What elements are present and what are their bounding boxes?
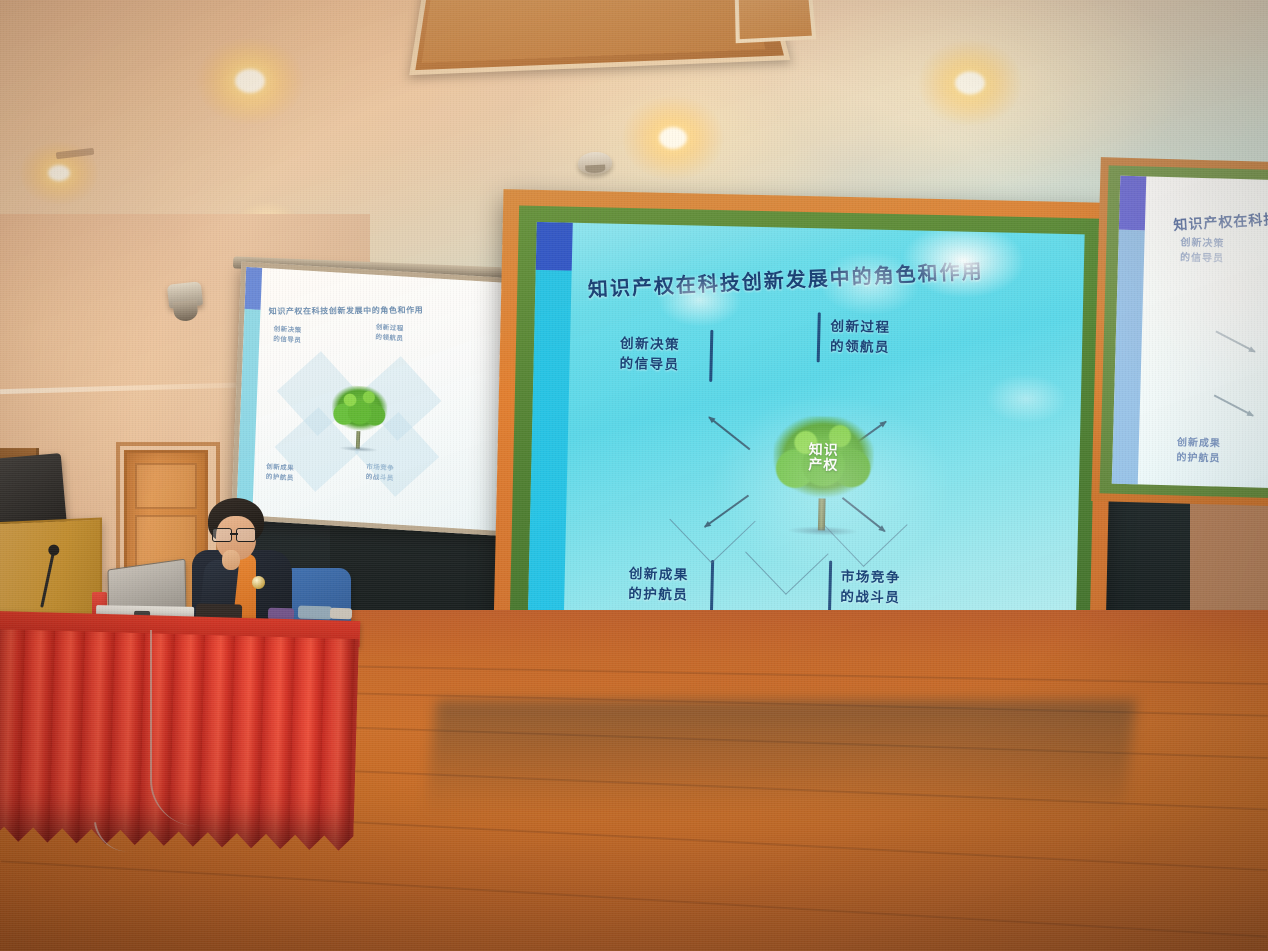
left-screen-surface: 知识产权在科技创新发展中的角色和作用 创新决策的信导员 创新过程的领航员 创新成… xyxy=(236,267,514,531)
slide-tick-top-right xyxy=(817,312,821,362)
label-line-1: 创新成果 xyxy=(629,564,689,585)
left-screen-tree-graphic xyxy=(326,384,362,426)
slide-title: 知识产权在科技创新发展中的角色和作用 xyxy=(587,251,1058,302)
tree-label-line-2: 产权 xyxy=(808,456,838,473)
main-screen-surface: 知识产权在科技创新发展中的角色和作用 创新决策 的信导员 创新过程 的领航员 创… xyxy=(527,222,1084,648)
lecture-hall-photo: 知识产权在科技创新发展中的角色和作用 创新决策的信导员 创新过程的领航员 创新成… xyxy=(0,0,1268,951)
presenter-glasses xyxy=(212,528,256,540)
label-line-1: 市场竞争 xyxy=(841,567,901,588)
power-cable xyxy=(150,630,196,826)
slide-tick-bottom-left xyxy=(710,560,714,612)
left-projection-screen[interactable]: 知识产权在科技创新发展中的角色和作用 创新决策的信导员 创新过程的领航员 创新成… xyxy=(231,262,519,537)
label-line-2: 的领航员 xyxy=(830,336,890,357)
left-screen-blue-block xyxy=(245,267,263,310)
slide-tick-bottom-right xyxy=(828,561,832,613)
label-line-1: 创新决策 xyxy=(620,334,680,355)
left-screen-cyan-bar xyxy=(236,309,260,510)
left-screen-slide-title: 知识产权在科技创新发展中的角色和作用 xyxy=(269,304,489,317)
security-camera xyxy=(167,281,203,308)
label-line-2: 的战斗员 xyxy=(840,586,900,607)
desk-item-glasses-case xyxy=(298,606,332,620)
label-line-2: 的信导员 xyxy=(619,353,679,374)
ceiling-wood-panel-right xyxy=(734,0,816,43)
presenter-hand xyxy=(222,550,240,570)
slide-label-bottom-right: 市场竞争 的战斗员 xyxy=(840,567,901,607)
tree-center-label: 知识 产权 xyxy=(787,442,860,473)
slide-left-cyan-bar xyxy=(527,270,571,648)
slide-chevron-left xyxy=(669,477,755,563)
label-line-2: 的护航员 xyxy=(628,584,688,605)
slide-tick-top-left xyxy=(709,330,713,382)
label-line-1: 创新过程 xyxy=(830,317,890,338)
presenter-brooch xyxy=(252,576,265,589)
right-led-screen[interactable]: 知识产权在科技创新发展中的角色和作用 创新决策的信导员 创新成果的护航员 xyxy=(1091,157,1268,507)
left-screen-label-bottom-left: 创新成果的护航员 xyxy=(266,462,295,484)
right-screen-glare xyxy=(1112,176,1268,489)
left-screen-label-top-left: 创新决策的信导员 xyxy=(273,325,302,347)
slide-arrow-upleft xyxy=(708,417,750,450)
slide-label-top-right: 创新过程 的领航员 xyxy=(830,317,891,357)
slide-label-bottom-left: 创新成果 的护航员 xyxy=(628,564,689,604)
tree-canopy xyxy=(331,384,388,436)
tree-shadow xyxy=(788,526,858,537)
main-led-screen[interactable]: 知识产权在科技创新发展中的角色和作用 创新决策 的信导员 创新过程 的领航员 创… xyxy=(493,189,1116,683)
slide-left-blue-block xyxy=(536,222,573,271)
slide-label-top-left: 创新决策 的信导员 xyxy=(619,334,680,374)
right-screen-surface: 知识产权在科技创新发展中的角色和作用 创新决策的信导员 创新成果的护航员 xyxy=(1112,176,1268,489)
desk-item-papers xyxy=(330,608,352,620)
left-screen-label-top-right: 创新过程的领航员 xyxy=(375,323,404,345)
slide-tree-graphic: 知识 产权 xyxy=(762,415,885,548)
